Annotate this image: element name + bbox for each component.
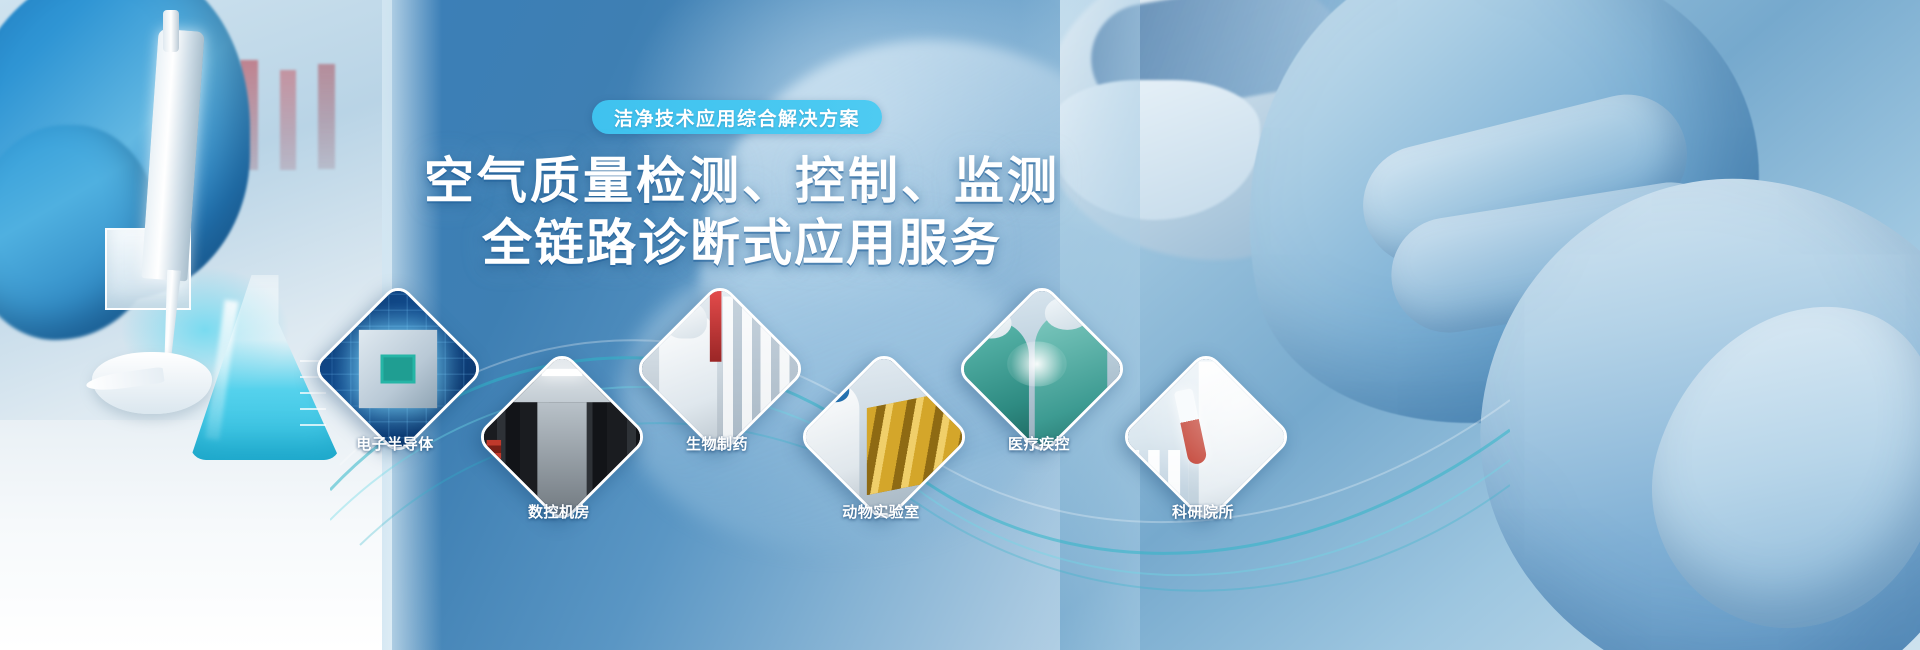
pharma-machine (723, 297, 802, 441)
circuit-chip-icon (312, 283, 483, 454)
hero-banner: 洁净技术应用综合解决方案 空气质量检测、控制、监测 全链路诊断式应用服务 电子半… (0, 0, 1920, 650)
chip-core (381, 355, 416, 384)
pipette-plunger (163, 10, 179, 52)
headline-line-2: 全链路诊断式应用服务 (392, 212, 1092, 274)
card-biopharma[interactable]: 生物制药 (658, 307, 782, 431)
research-lab-icon (1120, 351, 1291, 522)
card-label: 电子半导体 (305, 433, 485, 454)
card-label: 医疗疾控 (949, 433, 1129, 454)
card-diamond-frame (796, 349, 971, 524)
headline-block: 空气质量检测、控制、监测 全链路诊断式应用服务 (392, 150, 1092, 274)
medical-surgery-icon (956, 283, 1127, 454)
card-diamond-frame (632, 281, 807, 456)
card-animal-lab[interactable]: 动物实验室 (822, 375, 946, 499)
lab-window-glow (1120, 351, 1291, 522)
card-diamond-frame (954, 281, 1129, 456)
card-electronic-semiconductor[interactable]: 电子半导体 (336, 307, 460, 431)
pharma-cleanroom-icon (634, 283, 805, 454)
subtitle-badge: 洁净技术应用综合解决方案 (592, 100, 882, 134)
card-diamond-frame (1118, 349, 1293, 524)
card-diamond-frame (310, 281, 485, 456)
animal-lab-worker-cap (812, 372, 850, 403)
test-tube-rack-blur (240, 60, 390, 210)
pharma-red-tube (710, 290, 722, 362)
animal-lab-icon (798, 351, 969, 522)
industry-card-row: 电子半导体 数控机房 生物制 (300, 285, 1320, 515)
card-label: 动物实验室 (791, 501, 971, 522)
card-label: 生物制药 (627, 433, 807, 454)
pharma-worker-hood (665, 301, 706, 339)
card-label: 数控机房 (469, 501, 649, 522)
surgeon-left (960, 321, 1028, 444)
server-ceiling-lights (541, 369, 582, 376)
card-label: 科研院所 (1113, 501, 1293, 522)
card-diamond-frame (474, 349, 649, 524)
card-medical-cdc[interactable]: 医疗疾控 (980, 307, 1104, 431)
animal-lab-worker (805, 382, 860, 509)
server-room-icon (476, 351, 647, 522)
server-cable-bundle (487, 440, 502, 505)
server-ceiling (476, 351, 647, 402)
subtitle-badge-label: 洁净技术应用综合解决方案 (614, 104, 860, 131)
surgeon-left-cap (970, 307, 1011, 338)
card-research-institute[interactable]: 科研院所 (1144, 375, 1268, 499)
surgeon-right-cap (1045, 297, 1089, 329)
card-cnc-server-room[interactable]: 数控机房 (500, 375, 624, 499)
headline-line-1: 空气质量检测、控制、监测 (392, 150, 1092, 212)
surgical-light (1008, 342, 1066, 386)
